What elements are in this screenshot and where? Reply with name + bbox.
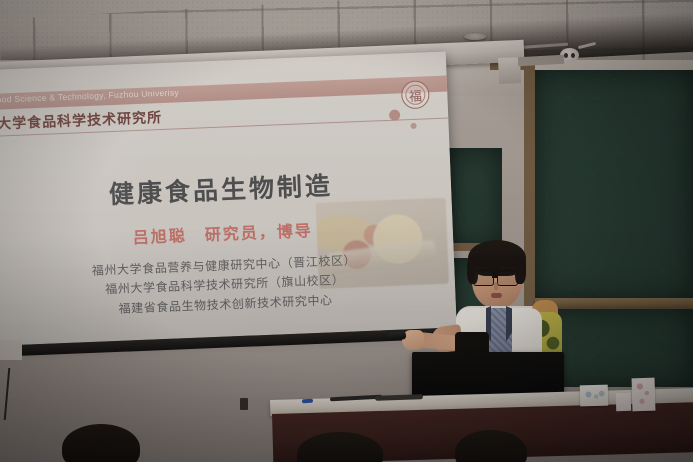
mouth (491, 293, 502, 298)
lecture-hall-photo: Food Science & Technology, Fuzhou Univer… (0, 0, 693, 462)
slide-decor-dot-small (410, 123, 416, 129)
wall-panel-left (0, 340, 22, 360)
slide-affiliations: 福州大学食品营养与健康研究中心（晋江校区） 福州大学食品科学技术研究所（旗山校区… (0, 247, 456, 324)
wall-outlet (240, 398, 248, 410)
glasses-icon (473, 271, 494, 286)
ceiling-vent-icon (464, 33, 486, 40)
glasses-lens-right (497, 271, 518, 286)
fuzhou-seal-icon: 福 (401, 80, 430, 109)
projection-screen: Food Science & Technology, Fuzhou Univer… (0, 52, 457, 355)
pen (302, 399, 313, 404)
screen-surface: Food Science & Technology, Fuzhou Univer… (0, 52, 457, 346)
seal-inner-ring (405, 84, 426, 105)
chalk-dust-texture (448, 148, 502, 248)
chalkboard-panel-left-upper (448, 148, 502, 248)
tissue-pack (632, 378, 656, 412)
tissue-box (580, 385, 609, 407)
presentation-slide: Food Science & Technology, Fuzhou Univer… (0, 52, 457, 346)
glasses-bridge (492, 276, 498, 278)
nose (494, 282, 498, 290)
tissue-box-small (616, 393, 631, 411)
